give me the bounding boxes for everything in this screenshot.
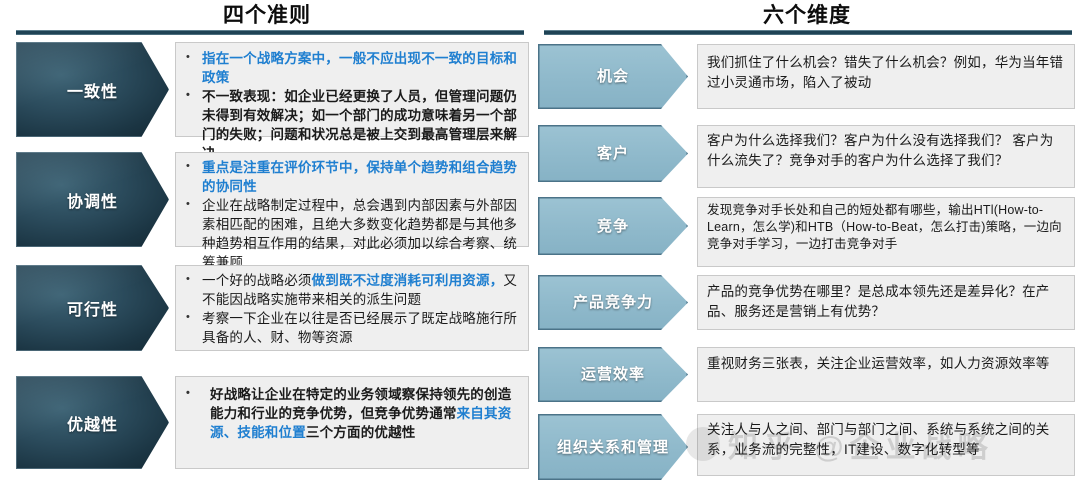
criterion-textbox-superiority: 好战略让企业在特定的业务领域察保持领先的创造能力和行业的竞争优势，但竞争优势通常… <box>175 376 529 469</box>
criterion-bullet-list: 指在一个战略方案中，一般不应出现不一致的目标和政策 不一致表现：如企业已经更换了… <box>180 49 520 163</box>
left-column-divider <box>16 30 524 35</box>
criterion-arrow-label: 协调性 <box>67 188 118 212</box>
dimension-arrow-opportunity[interactable]: 机会 <box>538 44 688 109</box>
criterion-row-1: 一致性 指在一个战略方案中，一般不应出现不一致的目标和政策 不一致表现：如企业已… <box>16 42 529 137</box>
criterion-textbox-consistency: 指在一个战略方案中，一般不应出现不一致的目标和政策 不一致表现：如企业已经更换了… <box>175 42 529 137</box>
dimension-arrow-competition[interactable]: 竞争 <box>538 197 688 255</box>
criterion-row-3: 可行性 一个好的战略必须做到既不过度消耗可利用资源，又不能因战略实施带来相关的派… <box>16 265 529 351</box>
dimension-textbox-opportunity: 我们抓住了什么机会？错失了什么机会？例如，华为当年错过小灵通市场，陷入了被动 <box>697 44 1075 109</box>
right-column-title: 六个维度 <box>534 3 1080 29</box>
dimension-arrow-label: 竞争 <box>597 217 629 236</box>
dimension-textbox-customer: 客户为什么选择我们？客户为什么没有选择我们？ 客户为什么流失了？竞争对手的客户为… <box>697 125 1075 188</box>
criterion-arrow-coordination[interactable]: 协调性 <box>16 152 169 247</box>
dimension-textbox-competition: 发现竞争对手长处和自己的短处都有哪些，输出HTl(How-to-Learn，怎么… <box>697 197 1075 267</box>
criterion-textbox-coordination: 重点是注重在评价环节中，保持单个趋势和组合趋势的协同性 企业在战略制定过程中，总… <box>175 152 529 247</box>
dimension-arrow-label: 组织关系和管理 <box>557 438 669 457</box>
criterion-bullet: 好战略让企业在特定的业务领域察保持领先的创造能力和行业的竞争优势，但竞争优势通常… <box>180 385 520 442</box>
criterion-textbox-feasibility: 一个好的战略必须做到既不过度消耗可利用资源，又不能因战略实施带来相关的派生问题 … <box>175 265 529 351</box>
dimension-row-1: 机会 我们抓住了什么机会？错失了什么机会？例如，华为当年错过小灵通市场，陷入了被… <box>538 44 1075 109</box>
dimension-arrow-label: 运营效率 <box>581 365 645 384</box>
dimension-arrow-org-relations-management[interactable]: 组织关系和管理 <box>538 414 688 480</box>
dimension-textbox-org-relations-management: 关注人与人之间、部门与部门之间、系统与系统之间的关系，业务流的完整性，IT建设、… <box>697 414 1075 476</box>
criterion-arrow-consistency[interactable]: 一致性 <box>16 42 169 137</box>
criterion-arrow-label: 一致性 <box>67 78 118 102</box>
dimension-arrow-product-competitiveness[interactable]: 产品竞争力 <box>538 275 688 330</box>
dimension-arrow-label: 产品竞争力 <box>573 293 653 312</box>
criterion-arrow-label: 优越性 <box>67 411 118 435</box>
left-column: 四个准则 一致性 指在一个战略方案中，一般不应出现不一致的目标和政策 不一致表现… <box>0 0 534 483</box>
criterion-arrow-superiority[interactable]: 优越性 <box>16 376 169 469</box>
criterion-bullet: 重点是注重在评价环节中，保持单个趋势和组合趋势的协同性 <box>180 158 520 196</box>
right-column-divider <box>544 30 1072 35</box>
criterion-bullet-list: 重点是注重在评价环节中，保持单个趋势和组合趋势的协同性 企业在战略制定过程中，总… <box>180 158 520 272</box>
dimension-arrow-label: 客户 <box>597 144 629 163</box>
criterion-bullet: 企业在战略制定过程中，总会遇到内部因素与外部因素相匹配的困难，且绝大多数变化趋势… <box>180 196 520 272</box>
slide-canvas: 四个准则 一致性 指在一个战略方案中，一般不应出现不一致的目标和政策 不一致表现… <box>0 0 1080 483</box>
dimension-textbox-product-competitiveness: 产品的竞争优势在哪里？是总成本领先还是差异化？在产品、服务还是营销上有优势？ <box>697 275 1075 330</box>
dimension-arrow-operational-efficiency[interactable]: 运营效率 <box>538 347 688 402</box>
criterion-arrow-feasibility[interactable]: 可行性 <box>16 265 169 351</box>
dimension-row-4: 产品竞争力 产品的竞争优势在哪里？是总成本领先还是差异化？在产品、服务还是营销上… <box>538 275 1075 330</box>
dimension-arrow-label: 机会 <box>597 67 629 86</box>
left-column-title: 四个准则 <box>0 3 534 29</box>
criterion-bullet-list: 好战略让企业在特定的业务领域察保持领先的创造能力和行业的竞争优势，但竞争优势通常… <box>180 385 520 442</box>
criterion-bullet: 指在一个战略方案中，一般不应出现不一致的目标和政策 <box>180 49 520 87</box>
right-column: 六个维度 机会 我们抓住了什么机会？错失了什么机会？例如，华为当年错过小灵通市场… <box>534 0 1080 483</box>
criterion-row-4: 优越性 好战略让企业在特定的业务领域察保持领先的创造能力和行业的竞争优势，但竞争… <box>16 376 529 469</box>
criterion-row-2: 协调性 重点是注重在评价环节中，保持单个趋势和组合趋势的协同性 企业在战略制定过… <box>16 152 529 247</box>
dimension-row-3: 竞争 发现竞争对手长处和自己的短处都有哪些，输出HTl(How-to-Learn… <box>538 197 1075 267</box>
criterion-arrow-label: 可行性 <box>67 296 118 320</box>
dimension-row-6: 组织关系和管理 关注人与人之间、部门与部门之间、系统与系统之间的关系，业务流的完… <box>538 414 1075 480</box>
dimension-row-2: 客户 客户为什么选择我们？客户为什么没有选择我们？ 客户为什么流失了？竞争对手的… <box>538 125 1075 188</box>
dimension-arrow-customer[interactable]: 客户 <box>538 125 688 182</box>
dimension-textbox-operational-efficiency: 重视财务三张表，关注企业运营效率，如人力资源效率等 <box>697 347 1075 402</box>
criterion-bullet: 考察一下企业在以往是否已经展示了既定战略施行所具备的人、财、物等资源 <box>180 309 520 347</box>
criterion-bullet-list: 一个好的战略必须做到既不过度消耗可利用资源，又不能因战略实施带来相关的派生问题 … <box>180 271 520 347</box>
dimension-row-5: 运营效率 重视财务三张表，关注企业运营效率，如人力资源效率等 <box>538 347 1075 402</box>
criterion-bullet: 一个好的战略必须做到既不过度消耗可利用资源，又不能因战略实施带来相关的派生问题 <box>180 271 520 309</box>
